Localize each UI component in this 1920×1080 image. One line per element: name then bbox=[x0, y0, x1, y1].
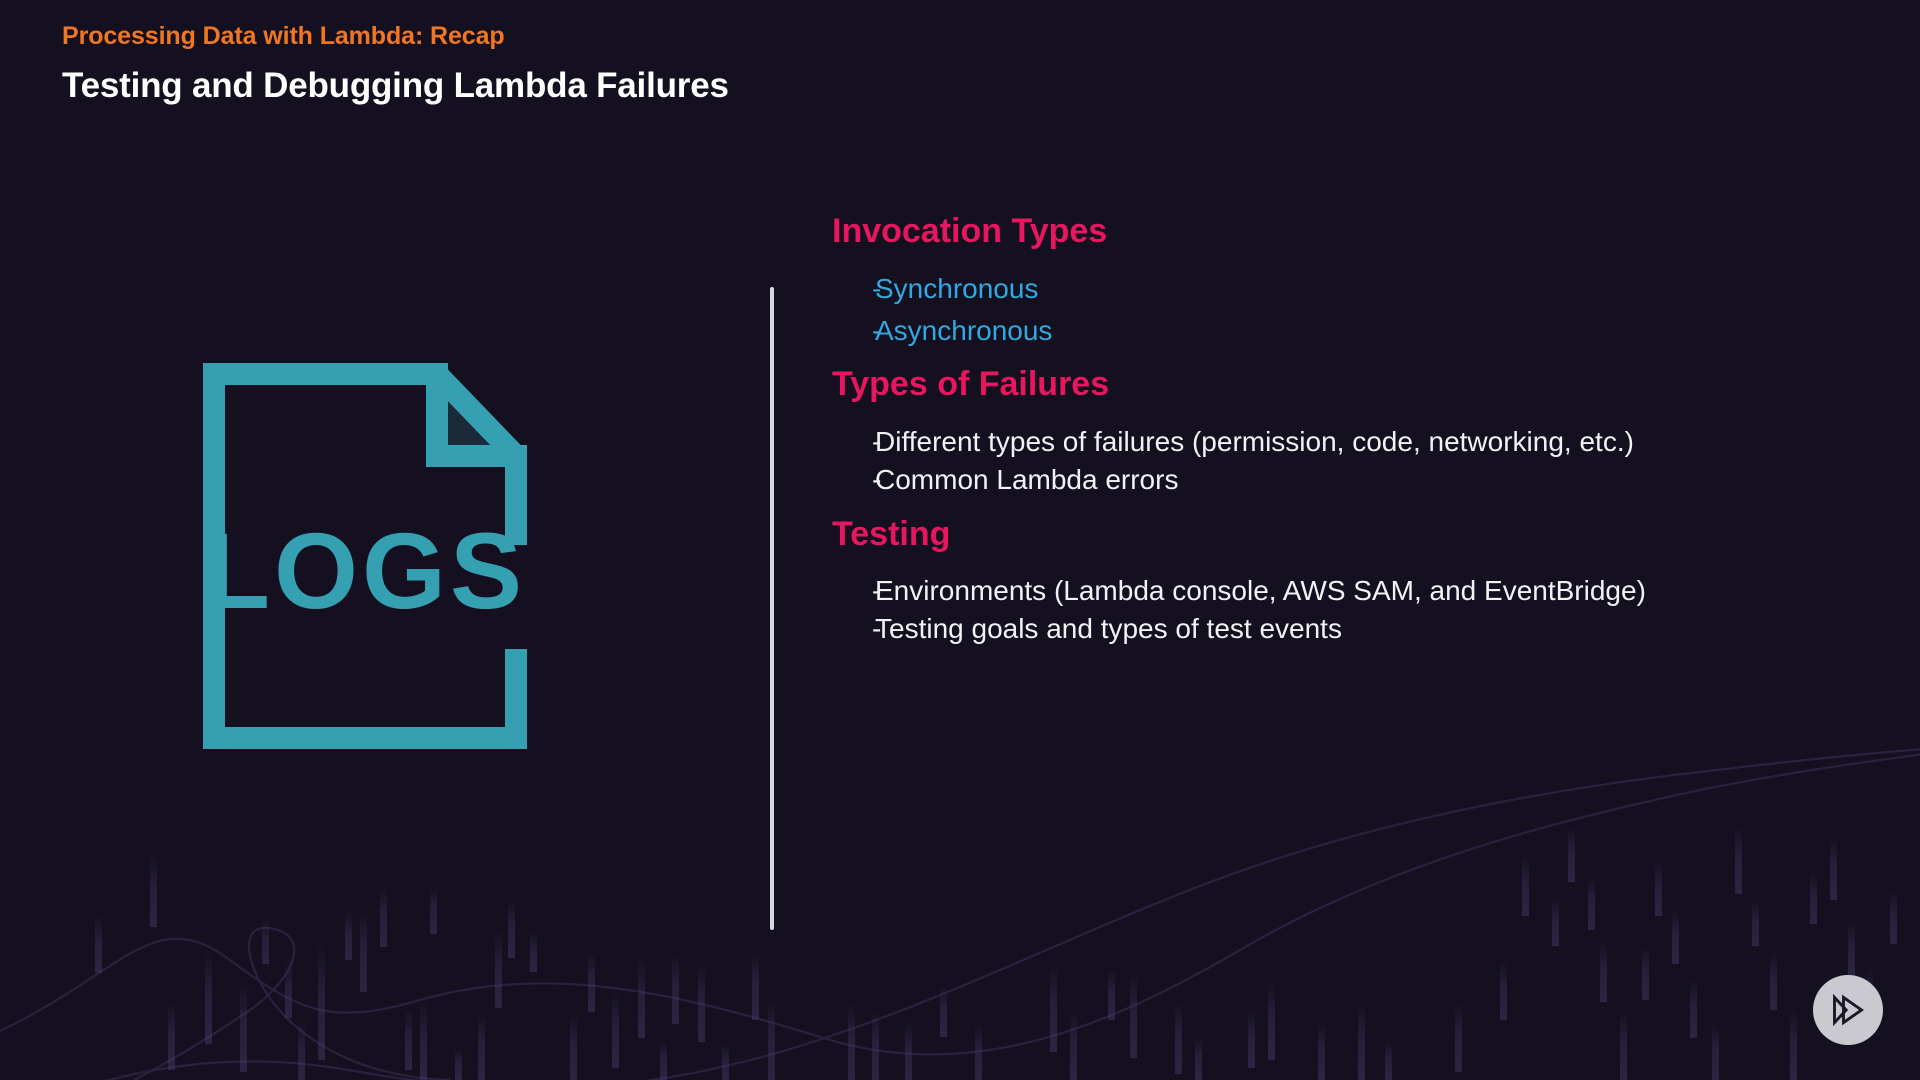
group-heading: Invocation Types bbox=[832, 210, 1832, 253]
list-item-label: Different types of failures (permission,… bbox=[875, 424, 1780, 460]
recap-content: Invocation Types - Synchronous - Asynchr… bbox=[832, 210, 1832, 654]
list-item: - Environments (Lambda console, AWS SAM,… bbox=[832, 573, 1832, 609]
bullet-dash: - bbox=[832, 573, 875, 609]
page-title: Testing and Debugging Lambda Failures bbox=[62, 65, 729, 107]
list-item: - Synchronous bbox=[832, 271, 1832, 307]
play-badge-button[interactable] bbox=[1813, 975, 1883, 1045]
group-bullet-list: - Environments (Lambda console, AWS SAM,… bbox=[832, 573, 1832, 648]
list-item-label: Synchronous bbox=[875, 271, 1780, 307]
group-bullet-list: - Synchronous - Asynchronous bbox=[832, 271, 1832, 350]
list-item: - Asynchronous bbox=[832, 313, 1832, 349]
list-item: - Common Lambda errors bbox=[832, 462, 1832, 498]
recap-group-testing: Testing - Environments (Lambda console, … bbox=[832, 513, 1832, 648]
recap-group-types-of-failures: Types of Failures - Different types of f… bbox=[832, 363, 1832, 498]
bullet-dash: - bbox=[832, 611, 875, 647]
logs-document-icon: LOGS bbox=[200, 360, 530, 752]
bullet-dash: - bbox=[832, 462, 875, 498]
group-heading: Testing bbox=[832, 513, 1832, 556]
slide-canvas: Processing Data with Lambda: Recap Testi… bbox=[0, 0, 1920, 1080]
bullet-dash: - bbox=[832, 271, 875, 307]
eyebrow-text: Processing Data with Lambda: Recap bbox=[62, 22, 729, 51]
list-item: - Testing goals and types of test events bbox=[832, 611, 1832, 647]
logs-document-illustration: LOGS bbox=[200, 360, 530, 752]
bullet-dash: - bbox=[832, 424, 875, 460]
bullet-dash: - bbox=[832, 313, 875, 349]
recap-group-invocation-types: Invocation Types - Synchronous - Asynchr… bbox=[832, 210, 1832, 349]
list-item-label: Testing goals and types of test events bbox=[875, 611, 1780, 647]
list-item-label: Environments (Lambda console, AWS SAM, a… bbox=[875, 573, 1780, 609]
list-item: - Different types of failures (permissio… bbox=[832, 424, 1832, 460]
list-item-label: Common Lambda errors bbox=[875, 462, 1780, 498]
logs-label: LOGS bbox=[204, 510, 526, 631]
slide-header: Processing Data with Lambda: Recap Testi… bbox=[62, 22, 729, 107]
double-play-triangle-icon bbox=[1828, 992, 1868, 1028]
list-item-label: Asynchronous bbox=[875, 313, 1780, 349]
group-heading: Types of Failures bbox=[832, 363, 1832, 406]
group-bullet-list: - Different types of failures (permissio… bbox=[832, 424, 1832, 499]
vertical-divider bbox=[770, 287, 774, 930]
